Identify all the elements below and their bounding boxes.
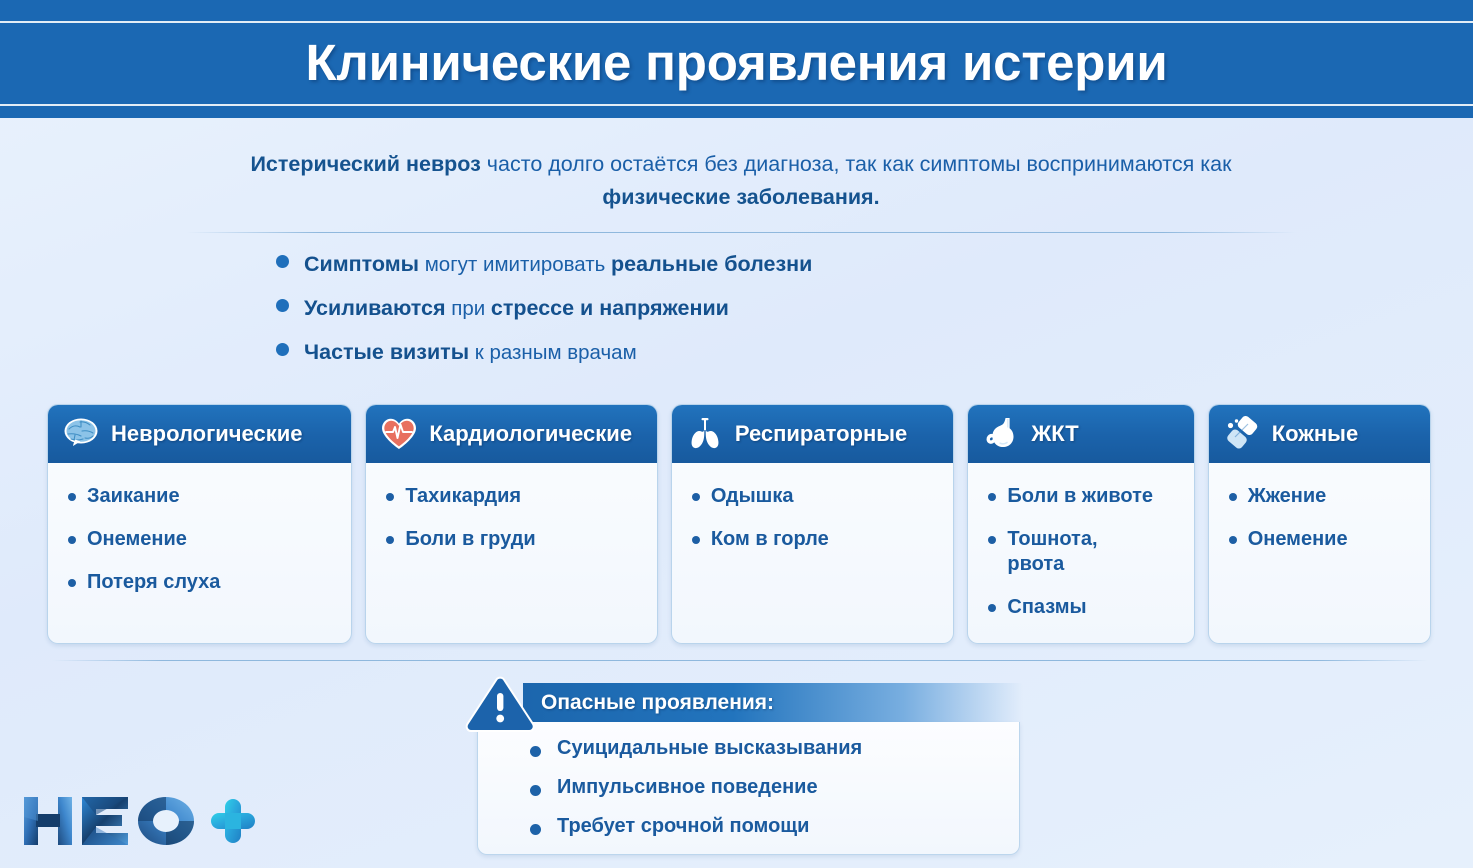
bullet-dot-icon <box>530 746 541 757</box>
card-title: Неврологические <box>111 421 303 447</box>
key-point-strong2: реальные болезни <box>611 252 812 276</box>
neo-plus-logo <box>18 787 258 853</box>
key-point-text: Симптомы могут имитировать реальные боле… <box>304 252 812 277</box>
bullet-dot-icon <box>276 255 289 268</box>
card-list-text: Тахикардия <box>405 484 521 509</box>
card-header: Респираторные <box>672 405 954 463</box>
key-point-item: Частые визиты к разным врачам <box>276 340 1176 384</box>
bullet-dot-icon <box>530 824 541 835</box>
bandage-icon <box>1222 414 1262 454</box>
card-list-text: Ком в горле <box>711 527 829 552</box>
card-list-text: Одышка <box>711 484 794 509</box>
header-rule-bottom <box>0 104 1473 106</box>
warning-triangle-icon <box>463 676 539 733</box>
card-list-item: Потеря слуха <box>68 570 341 595</box>
key-point-item: Усиливаются при стрессе и напряжении <box>276 296 1176 340</box>
card-list-text: Спазмы <box>1007 595 1086 620</box>
warning-list-item: Импульсивное поведение <box>530 776 1019 815</box>
bullet-dot-icon <box>386 536 394 544</box>
intro-emphasis: физические заболевания. <box>602 185 879 209</box>
page-title: Клинические проявления истерии <box>0 27 1473 99</box>
card-cardiological[interactable]: Кардиологические Тахикардия Боли в груди <box>365 404 657 644</box>
bullet-dot-icon <box>386 493 394 501</box>
card-list-item: Одышка <box>692 484 944 509</box>
card-list-text: Онемение <box>87 527 187 552</box>
warning-list-text: Требует срочной помощи <box>557 815 809 838</box>
bullet-dot-icon <box>276 343 289 356</box>
bullet-dot-icon <box>988 536 996 544</box>
warning-list-text: Импульсивное поведение <box>557 776 818 799</box>
brain-icon <box>61 414 101 454</box>
card-body: Жжение Онемение <box>1209 463 1430 643</box>
card-list-text: Заикание <box>87 484 180 509</box>
stomach-icon <box>981 414 1021 454</box>
heart-pulse-icon <box>379 414 419 454</box>
intro-mid: часто долго остаётся без диагноза, так к… <box>481 152 1232 176</box>
bullet-dot-icon <box>68 536 76 544</box>
card-body: Заикание Онемение Потеря слуха <box>48 463 351 643</box>
bullet-dot-icon <box>988 493 996 501</box>
card-header: ЖКТ <box>968 405 1193 463</box>
bullet-dot-icon <box>68 493 76 501</box>
warning-title: Опасные проявления: <box>541 691 774 715</box>
card-list-item: Боли в груди <box>386 527 646 552</box>
bullet-dot-icon <box>692 493 700 501</box>
key-point-strong: Усиливаются <box>304 296 446 320</box>
symptom-category-cards: Неврологические Заикание Онемение Потеря… <box>47 404 1431 644</box>
card-neurological[interactable]: Неврологические Заикание Онемение Потеря… <box>47 404 352 644</box>
warning-list-item: Суицидальные высказывания <box>530 737 1019 776</box>
card-title: ЖКТ <box>1031 421 1078 447</box>
key-points-list: Симптомы могут имитировать реальные боле… <box>276 252 1176 384</box>
warning-body: Суицидальные высказывания Импульсивное п… <box>477 722 1020 855</box>
key-point-strong: Частые визиты <box>304 340 469 364</box>
warning-list-item: Требует срочной помощи <box>530 815 1019 854</box>
card-list-item: Онемение <box>1229 527 1420 552</box>
card-gastrointestinal[interactable]: ЖКТ Боли в животе Тошнота, рвота Спазмы <box>967 404 1194 644</box>
bullet-dot-icon <box>68 579 76 587</box>
card-list-item: Ком в горле <box>692 527 944 552</box>
card-list-item: Жжение <box>1229 484 1420 509</box>
key-point-strong2: стрессе и напряжении <box>491 296 729 320</box>
card-respiratory[interactable]: Респираторные Одышка Ком в горле <box>671 404 955 644</box>
key-point-text: Частые визиты к разным врачам <box>304 340 637 365</box>
card-header: Неврологические <box>48 405 351 463</box>
card-list-text: Боли в животе <box>1007 484 1153 509</box>
card-dermatological[interactable]: Кожные Жжение Онемение <box>1208 404 1431 644</box>
card-header: Кардиологические <box>366 405 656 463</box>
key-point-text: Усиливаются при стрессе и напряжении <box>304 296 729 321</box>
card-list-item: Тахикардия <box>386 484 646 509</box>
bullet-dot-icon <box>988 604 996 612</box>
page-header: Клинические проявления истерии <box>0 0 1473 118</box>
card-title: Респираторные <box>735 421 907 447</box>
card-header: Кожные <box>1209 405 1430 463</box>
lungs-icon <box>685 414 725 454</box>
card-list-item: Онемение <box>68 527 341 552</box>
bottom-divider <box>52 660 1428 661</box>
card-list-text: Тошнота, рвота <box>1007 527 1097 577</box>
key-point-normal: к разным врачам <box>469 341 637 364</box>
key-point-strong: Симптомы <box>304 252 419 276</box>
intro-lead: Истерический невроз <box>250 152 480 176</box>
card-list-item: Спазмы <box>988 595 1183 620</box>
card-title: Кожные <box>1272 421 1359 447</box>
header-rule-top <box>0 21 1473 23</box>
bullet-dot-icon <box>692 536 700 544</box>
card-list-item: Боли в животе <box>988 484 1183 509</box>
card-list-text: Онемение <box>1248 527 1348 552</box>
key-point-normal: могут имитировать <box>419 253 611 276</box>
bullet-dot-icon <box>530 785 541 796</box>
card-body: Одышка Ком в горле <box>672 463 954 643</box>
card-title: Кардиологические <box>429 421 632 447</box>
card-list-item: Тошнота, рвота <box>988 527 1183 577</box>
card-list-text: Потеря слуха <box>87 570 220 595</box>
intro-paragraph: Истерический невроз часто долго остаётся… <box>186 148 1296 214</box>
card-list-text: Боли в груди <box>405 527 535 552</box>
bullet-dot-icon <box>276 299 289 312</box>
card-body: Тахикардия Боли в груди <box>366 463 656 643</box>
warning-header-bar: Опасные проявления: <box>523 683 1023 723</box>
intro-divider <box>186 232 1296 233</box>
card-list-item: Заикание <box>68 484 341 509</box>
key-point-normal: при <box>446 297 491 320</box>
card-body: Боли в животе Тошнота, рвота Спазмы <box>968 463 1193 644</box>
warning-list-text: Суицидальные высказывания <box>557 737 862 760</box>
key-point-item: Симптомы могут имитировать реальные боле… <box>276 252 1176 296</box>
card-list-text: Жжение <box>1248 484 1327 509</box>
bullet-dot-icon <box>1229 536 1237 544</box>
danger-warning-box: Опасные проявления: Суицидальные высказы… <box>463 676 1033 861</box>
bullet-dot-icon <box>1229 493 1237 501</box>
